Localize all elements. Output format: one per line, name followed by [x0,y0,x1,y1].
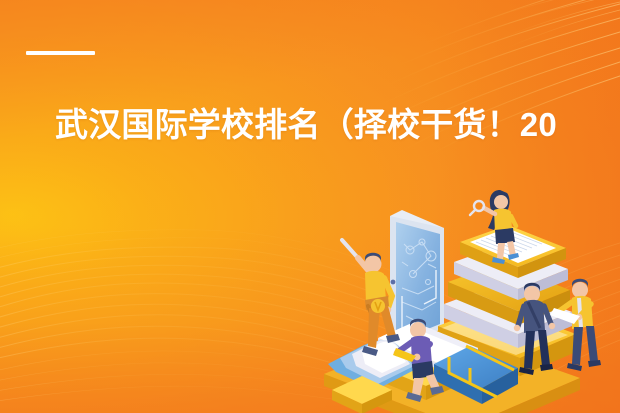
tablet-camera-dot [391,280,396,285]
headline-accent-rule [26,51,95,55]
gold-coin-accent [371,299,385,313]
page-title: 武汉国际学校排名（择校干货！20 [55,103,620,147]
promo-banner: 武汉国际学校排名（择校干货！20 [0,0,620,413]
isometric-education-illustration [318,178,620,413]
